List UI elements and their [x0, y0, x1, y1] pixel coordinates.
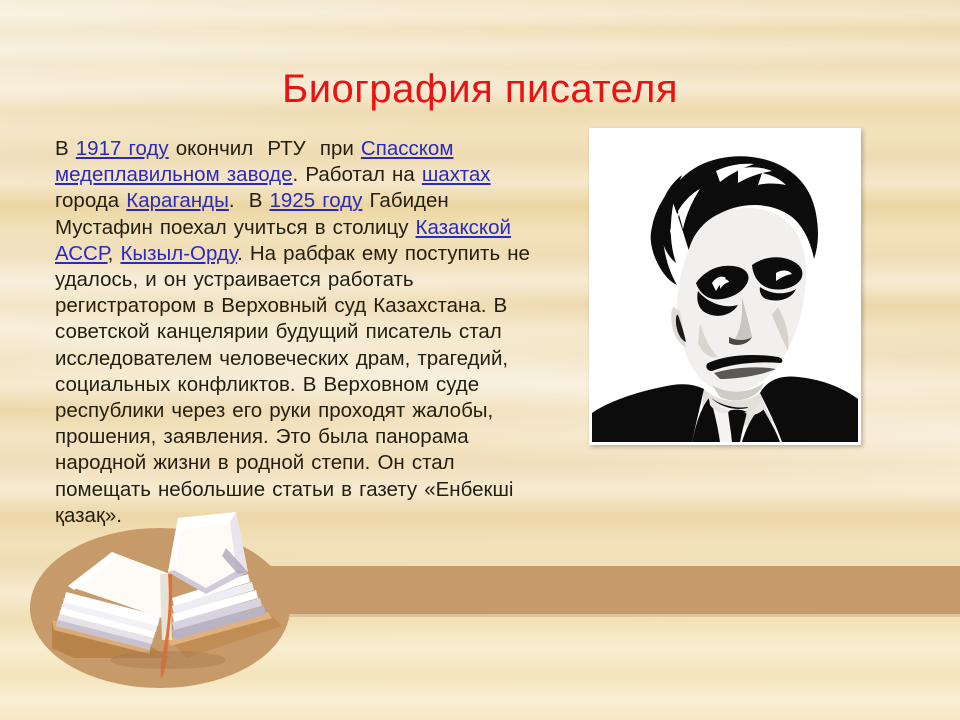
text-segment: . В: [229, 189, 270, 212]
book-icon: [0, 508, 320, 708]
text-segment: ,: [108, 242, 121, 265]
text-segment: окончил РТУ при: [169, 137, 361, 160]
text-segment: города: [55, 189, 126, 212]
portrait-illustration: [592, 131, 858, 442]
text-segment-tail: . На рабфак ему поступить не удалось, и …: [55, 242, 530, 527]
text-segment: В: [55, 137, 76, 160]
open-book-decoration: [0, 508, 320, 708]
link-karagandy[interactable]: Караганды: [126, 189, 229, 212]
link-shakhty[interactable]: шахтах: [422, 163, 491, 186]
page-title: Биография писателя: [0, 66, 960, 112]
link-kyzyl-orda[interactable]: Кызыл-Орду: [120, 242, 237, 265]
link-1917-god[interactable]: 1917 году: [76, 137, 169, 160]
portrait-photo-inner: [592, 131, 858, 442]
text-segment: . Работал на: [293, 163, 422, 186]
biography-text: В 1917 году окончил РТУ при Спасском мед…: [55, 136, 553, 529]
link-1925-god[interactable]: 1925 году: [270, 189, 363, 212]
portrait-photo: [589, 128, 861, 445]
presentation-slide: Биография писателя В 1917 году окончил Р…: [0, 0, 960, 720]
